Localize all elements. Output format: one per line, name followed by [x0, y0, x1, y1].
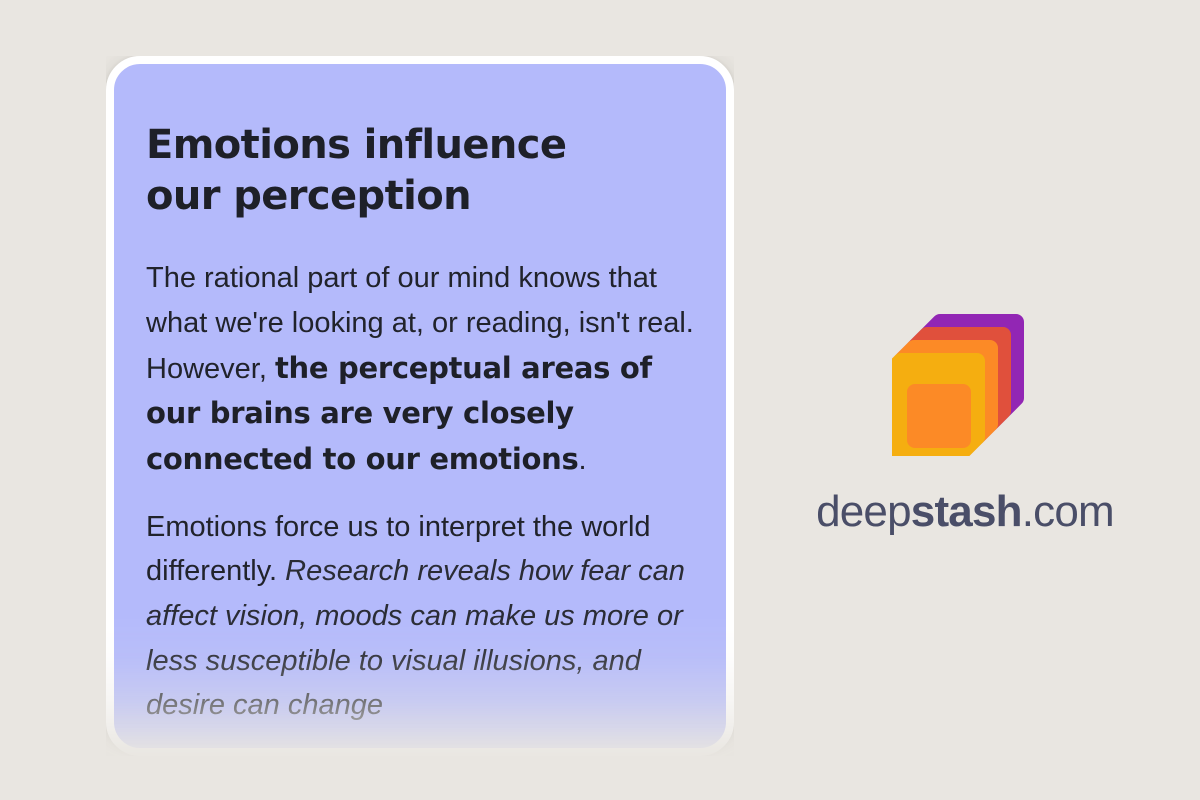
idea-paragraph-1: The rational part of our mind knows that… [146, 256, 708, 482]
page-title: Emotions influence our perception [146, 120, 646, 222]
page-canvas: Emotions influence our perception The ra… [0, 0, 1200, 800]
wordmark-emphasis: stash [911, 487, 1022, 536]
brand-wordmark: deepstash.com [816, 490, 1114, 534]
wordmark-prefix: deep [816, 487, 911, 536]
brand-block: deepstash.com [770, 300, 1160, 534]
idea-card-content: Emotions influence our perception The ra… [146, 120, 708, 728]
idea-card[interactable]: Emotions influence our perception The ra… [106, 56, 734, 756]
idea-paragraph-2: Emotions force us to interpret the world… [146, 505, 708, 728]
idea-card-fade-wrapper: Emotions influence our perception The ra… [106, 56, 734, 756]
paragraph-1-run-normal-2: . [578, 444, 586, 476]
wordmark-tld: .com [1022, 487, 1114, 536]
deepstash-logo-icon [892, 300, 1038, 456]
